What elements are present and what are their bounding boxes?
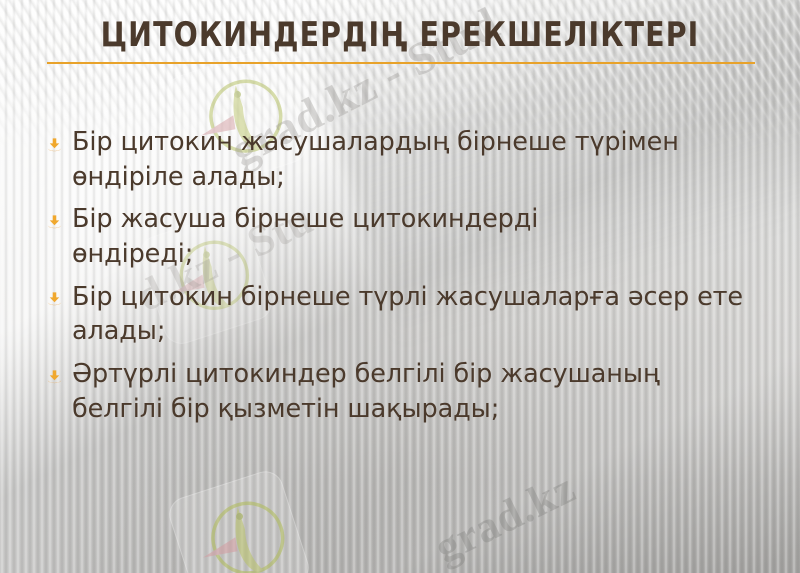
presentation-slide: grad.kz - Stud d.kz - Stu grad.kz Цитоки…	[0, 0, 800, 573]
bullet-list: Бір цитокин жасушалардың бірнеше түрімен…	[46, 125, 766, 434]
bullet-item-label: Әртүрлі цитокиндер белгілі бір жасушаның…	[72, 357, 682, 426]
bullet-item-label: Бір жасуша бірнеше цитокиндерді өндіреді…	[72, 202, 632, 271]
bullet-item-label: Бір цитокин бірнеше түрлі жасушаларға әс…	[72, 280, 752, 349]
bullet-item: Бір цитокин жасушалардың бірнеше түрімен…	[46, 125, 766, 194]
bullet-item: Әртүрлі цитокиндер белгілі бір жасушаның…	[46, 357, 766, 426]
slide-title: Цитокиндердің ерекшеліктері	[0, 18, 800, 54]
gold-arrow-bullet-icon	[46, 357, 72, 391]
bullet-item: Бір жасуша бірнеше цитокиндерді өндіреді…	[46, 202, 766, 271]
gold-arrow-bullet-icon	[46, 125, 72, 159]
slide-title-text: Цитокиндердің ерекшеліктері	[28, 18, 772, 54]
bullet-item: Бір цитокин бірнеше түрлі жасушаларға әс…	[46, 280, 766, 349]
bullet-item-label: Бір цитокин жасушалардың бірнеше түрімен…	[72, 125, 712, 194]
title-underline-rule	[47, 62, 755, 64]
gold-arrow-bullet-icon	[46, 280, 72, 314]
gold-arrow-bullet-icon	[46, 202, 72, 236]
